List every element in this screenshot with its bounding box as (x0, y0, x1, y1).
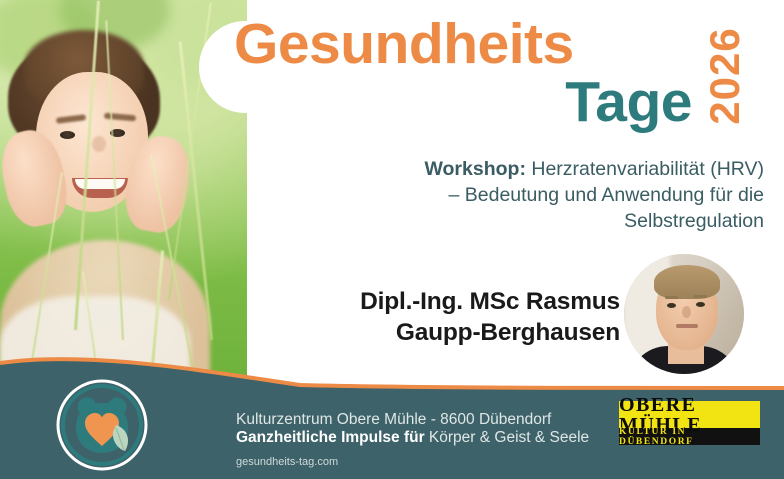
tagline-bold: Ganzheitliche Impulse für (236, 429, 425, 446)
workshop-line-3: Selbstregulation (624, 210, 764, 232)
portrait-hair (654, 265, 720, 299)
workshop-title: Workshop: Herzratenvariabilität (HRV) – … (272, 156, 764, 234)
workshop-label: Workshop: (424, 158, 525, 180)
event-poster: Gesundheits Tage 2026 Workshop: Herzrate… (0, 0, 784, 479)
obere-muehle-logo[interactable]: OBERE MÜHLE KULTUR IN DÜBENDORF (619, 401, 760, 445)
event-tagline: Ganzheitliche Impulse für Körper & Geist… (236, 428, 616, 447)
page-title-primary: Gesundheits (234, 14, 702, 74)
venue-address: Kulturzentrum Obere Mühle - 8600 Dübendo… (236, 410, 616, 429)
website-url[interactable]: gesundheits-tag.com (236, 455, 338, 469)
tagline-rest: Körper & Geist & Seele (425, 429, 590, 446)
portrait-mouth (676, 324, 698, 328)
woman-nose (92, 136, 106, 152)
portrait-brow-right (694, 295, 707, 298)
obere-muehle-subtitle: KULTUR IN DÜBENDORF (619, 427, 760, 447)
portrait-brow-left (665, 296, 678, 299)
portrait-eye-right (696, 302, 705, 307)
speaker-name: Dipl.-Ing. MSc Rasmus Gaupp-Berghausen (262, 286, 620, 348)
year-label: 2026 (693, 14, 757, 138)
obere-muehle-nameplate: OBERE MÜHLE (619, 401, 760, 428)
speaker-portrait-photo (624, 254, 744, 374)
gesundheitstage-logo (56, 379, 148, 471)
woman-eye-left (60, 131, 75, 139)
workshop-topic: Herzratenvariabilität (HRV) (526, 158, 764, 180)
year-text: 2026 (701, 27, 749, 124)
portrait-eye-left (667, 303, 676, 308)
obere-muehle-subtitle-bar: KULTUR IN DÜBENDORF (619, 428, 760, 445)
speaker-name-line-1: Dipl.-Ing. MSc Rasmus (360, 288, 620, 315)
workshop-line-2: – Bedeutung und Anwendung für die (448, 184, 764, 206)
speaker-name-line-2: Gaupp-Berghausen (396, 319, 620, 346)
page-title-secondary: Tage (234, 72, 702, 132)
portrait-nose (682, 306, 691, 318)
